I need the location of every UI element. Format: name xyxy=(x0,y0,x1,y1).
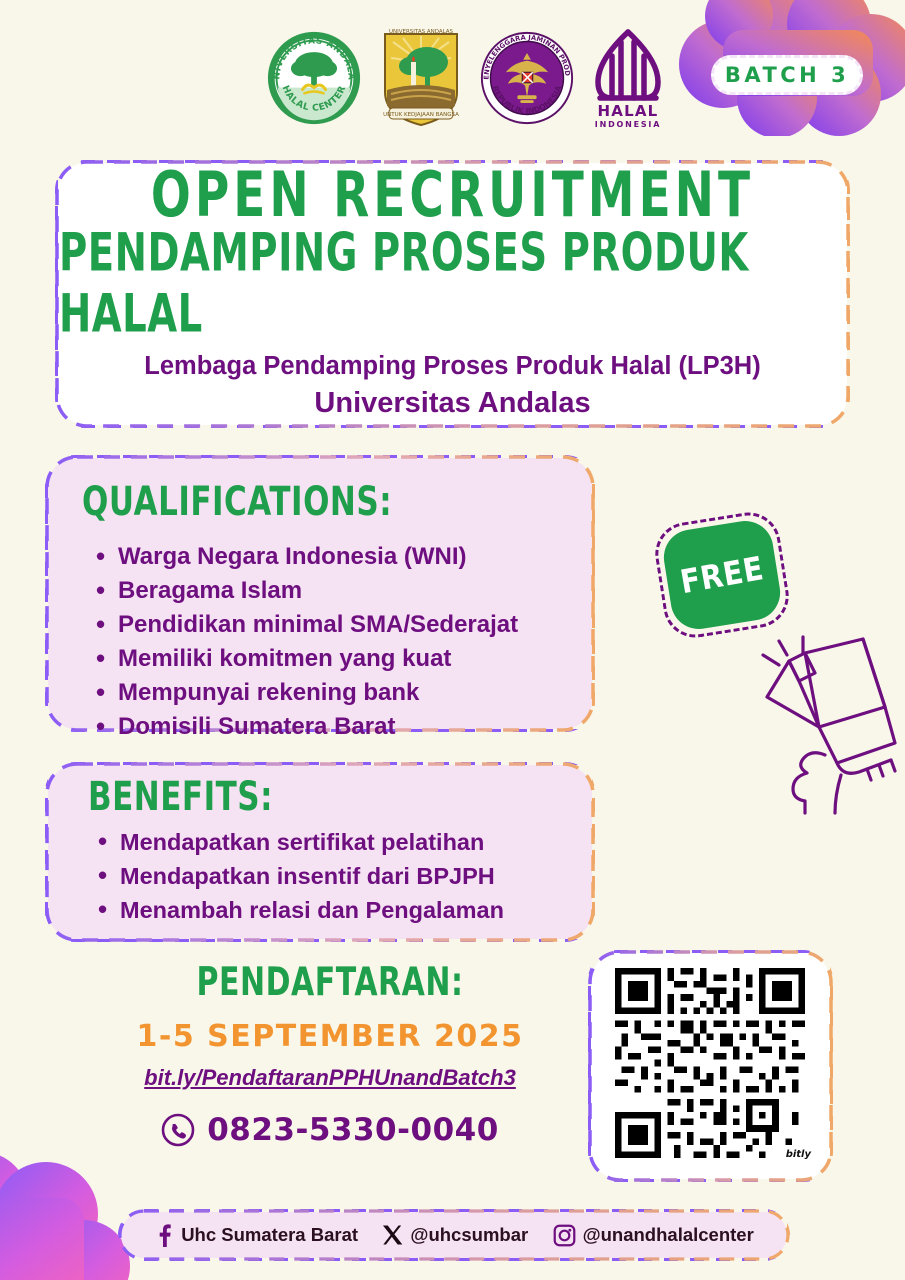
megaphone-icon xyxy=(745,635,905,815)
phone-icon xyxy=(161,1113,195,1147)
x-twitter-icon xyxy=(382,1224,403,1246)
qualifications-heading: QUALIFICATIONS: xyxy=(82,479,392,526)
registration-block: PENDAFTARAN: 1-5 SEPTEMBER 2025 bit.ly/P… xyxy=(105,965,555,1148)
benefits-heading: BENEFITS: xyxy=(88,774,273,821)
footer-item-facebook[interactable]: Uhc Sumatera Barat xyxy=(154,1223,358,1247)
batch-label: BATCH 3 xyxy=(725,63,849,87)
list-item: Memiliki komitmen yang kuat xyxy=(96,642,592,676)
list-item: Mempunyai rekening bank xyxy=(96,676,592,710)
footer-label-x: @uhcsumbar xyxy=(410,1224,528,1246)
halal-word: HALAL xyxy=(598,102,659,120)
registration-dates: 1-5 SEPTEMBER 2025 xyxy=(105,1019,555,1054)
list-item: Pendidikan minimal SMA/Sederajat xyxy=(96,608,592,642)
indonesia-word: INDONESIA xyxy=(595,120,661,129)
qr-brand-label: bitly xyxy=(786,1149,811,1160)
poster-root: UNIVERSITAS ANDALAS HALAL CENTER xyxy=(0,0,905,1280)
footer-card: Uhc Sumatera Barat @uhcsumbar xyxy=(118,1209,790,1261)
list-item: Mendapatkan sertifikat pelatihan xyxy=(98,825,592,859)
free-badge-box: FREE xyxy=(660,517,784,633)
title-line-3: Lembaga Pendamping Proses Produk Halal (… xyxy=(144,352,760,381)
qr-code-image[interactable] xyxy=(615,968,805,1158)
qualifications-list: Warga Negara Indonesia (WNI) Beragama Is… xyxy=(96,540,592,744)
instagram-icon xyxy=(553,1224,576,1247)
footer-label-facebook: Uhc Sumatera Barat xyxy=(181,1224,358,1246)
title-line-4: Universitas Andalas xyxy=(314,387,590,420)
list-item: Domisili Sumatera Barat xyxy=(96,710,592,744)
free-label: FREE xyxy=(677,549,766,601)
unand-halal-center-logo: UNIVERSITAS ANDALAS HALAL CENTER xyxy=(266,30,362,126)
svg-text:UNTUK KEDJAJAAN BANGSA: UNTUK KEDJAJAAN BANGSA xyxy=(383,112,459,118)
qr-card: bitly xyxy=(588,950,833,1182)
bpjph-logo: BADAN PENYELENGGARA JAMINAN PRODUK HALAL… xyxy=(479,30,575,126)
benefits-list: Mendapatkan sertifikat pelatihan Mendapa… xyxy=(98,825,592,927)
qualifications-card: QUALIFICATIONS: Warga Negara Indonesia (… xyxy=(45,455,595,732)
benefits-card: BENEFITS: Mendapatkan sertifikat pelatih… xyxy=(45,762,595,942)
registration-phone: 0823-5330-0040 xyxy=(105,1112,555,1148)
list-item: Mendapatkan insentif dari BPJPH xyxy=(98,859,592,893)
footer-item-instagram[interactable]: @unandhalalcenter xyxy=(553,1224,754,1247)
title-line-1: OPEN RECRUITMENT xyxy=(151,159,754,232)
facebook-icon xyxy=(154,1223,174,1247)
batch-badge: BATCH 3 xyxy=(681,8,891,138)
list-item: Warga Negara Indonesia (WNI) xyxy=(96,540,592,574)
footer-item-x[interactable]: @uhcsumbar xyxy=(382,1224,528,1246)
halal-indonesia-logo: HALAL INDONESIA xyxy=(590,26,666,130)
registration-heading: PENDAFTARAN: xyxy=(197,960,464,1006)
title-card: OPEN RECRUITMENT PENDAMPING PROSES PRODU… xyxy=(55,160,850,428)
universitas-andalas-logo: UNTUK KEDJAJAAN BANGSA UNIVERSITAS ANDAL… xyxy=(377,28,465,128)
footer-label-instagram: @unandhalalcenter xyxy=(583,1224,754,1246)
svg-text:UNIVERSITAS ANDALAS: UNIVERSITAS ANDALAS xyxy=(389,29,454,35)
batch-pill: BATCH 3 xyxy=(711,55,863,95)
logo-row: UNIVERSITAS ANDALAS HALAL CENTER xyxy=(266,22,666,134)
title-line-2: PENDAMPING PROSES PRODUK HALAL xyxy=(59,223,846,345)
free-badge: FREE xyxy=(655,515,805,640)
list-item: Beragama Islam xyxy=(96,574,592,608)
phone-number: 0823-5330-0040 xyxy=(207,1112,499,1148)
list-item: Menambah relasi dan Pengalaman xyxy=(98,893,592,927)
registration-link[interactable]: bit.ly/PendaftaranPPHUnandBatch3 xyxy=(105,1065,555,1091)
